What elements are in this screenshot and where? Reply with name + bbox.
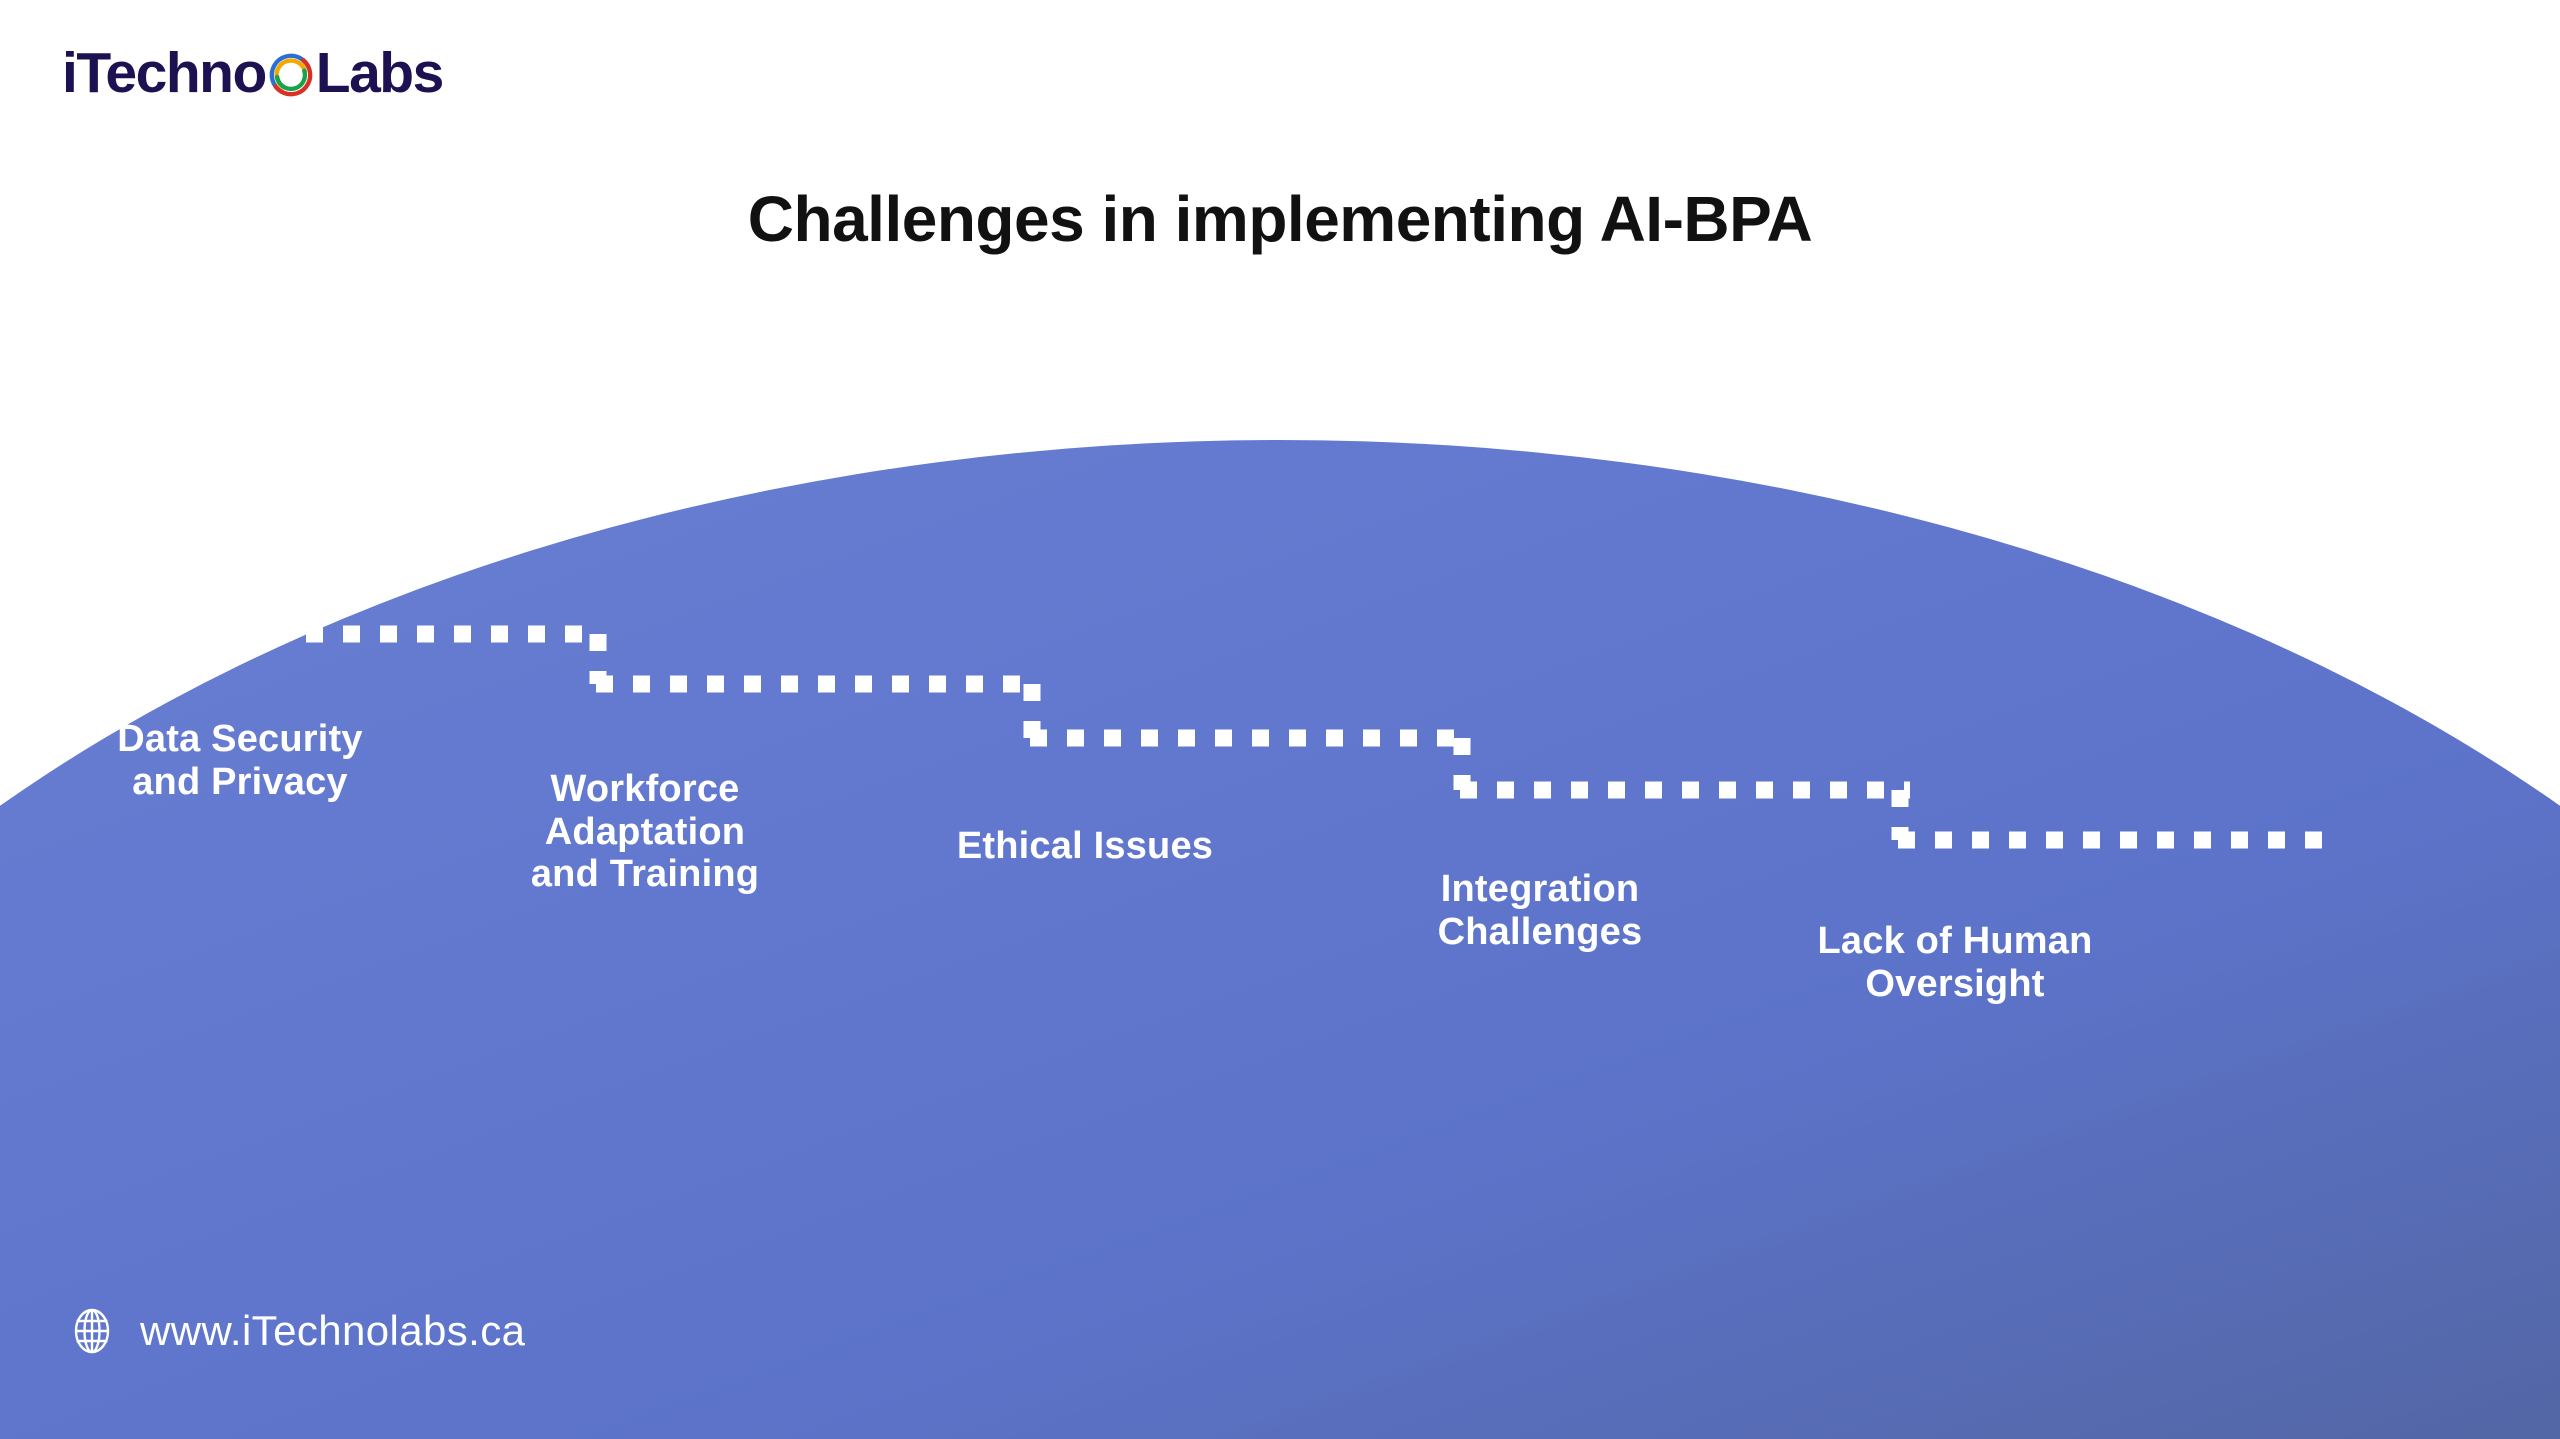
logo-text-itechno: iTechno — [62, 45, 266, 102]
footer-url-text: www.iTechnolabs.ca — [140, 1307, 525, 1355]
step-label-2: Workforce Adaptation and Training — [460, 768, 830, 896]
step-label-3: Ethical Issues — [885, 825, 1285, 868]
colored-ring-icon — [267, 51, 315, 99]
footer-website[interactable]: www.iTechnolabs.ca — [68, 1307, 525, 1355]
page-title: Challenges in implementing AI-BPA — [0, 182, 2560, 256]
step-label-4: Integration Challenges — [1355, 868, 1725, 953]
logo-text-labs: Labs — [316, 45, 443, 102]
step-label-5: Lack of Human Oversight — [1755, 920, 2155, 1005]
step-label-1: Data Security and Privacy — [55, 718, 425, 803]
globe-icon — [68, 1307, 116, 1355]
blue-ellipse-shape — [0, 440, 2560, 1439]
brand-logo[interactable]: iTechno Labs — [62, 42, 443, 104]
